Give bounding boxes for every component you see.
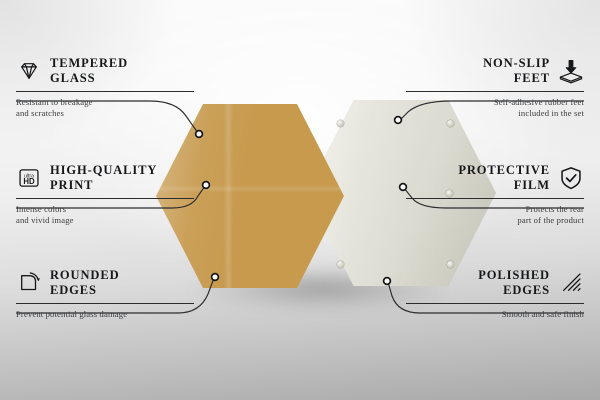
feature-polished-edges: POLISHED EDGES Smooth and safe finish	[406, 268, 584, 320]
feature-divider	[16, 91, 194, 92]
feature-rounded-edges: ROUNDED EDGES Prevent potential glass da…	[16, 268, 194, 320]
feature-divider	[16, 303, 194, 304]
connector-endpoint-rounded-edges	[212, 274, 219, 281]
feature-description: Resistant to breakage and scratches	[16, 97, 194, 120]
connector-endpoint-print	[203, 182, 210, 189]
press-down-pad-icon	[558, 58, 584, 84]
feature-header: ROUNDED EDGES	[16, 268, 194, 299]
feature-protective-film: PROTECTIVE FILM Protects the rear part o…	[406, 163, 584, 227]
feature-header: NON-SLIP FEET	[406, 56, 584, 87]
feature-high-quality-print: ultra HD HIGH-QUALITY PRINT Intense colo…	[16, 163, 194, 227]
feature-title: PROTECTIVE FILM	[458, 163, 550, 194]
feature-divider	[16, 198, 194, 199]
feature-header: TEMPERED GLASS	[16, 56, 194, 87]
rounded-corner-icon	[16, 270, 42, 296]
feature-divider	[406, 303, 584, 304]
svg-text:HD: HD	[23, 177, 35, 186]
feature-description: Smooth and safe finish	[406, 309, 584, 321]
diamond-icon	[16, 58, 42, 84]
feature-title: NON-SLIP FEET	[483, 56, 550, 87]
feature-header: ultra HD HIGH-QUALITY PRINT	[16, 163, 194, 194]
feature-title: TEMPERED GLASS	[50, 56, 128, 87]
feature-description: Self-adhesive rubber feet included in th…	[406, 97, 584, 120]
connector-endpoint-tempered-glass	[196, 131, 203, 138]
feature-description: Intense colors and vivid image	[16, 204, 194, 227]
ultra-hd-icon: ultra HD	[16, 165, 42, 191]
feature-description: Prevent potential glass damage	[16, 309, 194, 321]
connector-endpoint-polished-edges	[384, 278, 391, 285]
feature-header: POLISHED EDGES	[406, 268, 584, 299]
connector-endpoint-non-slip-feet	[395, 117, 402, 124]
feature-header: PROTECTIVE FILM	[406, 163, 584, 194]
infographic-canvas: TEMPERED GLASS Resistant to breakage and…	[0, 0, 600, 400]
feature-divider	[406, 91, 584, 92]
feature-title: ROUNDED EDGES	[50, 268, 120, 299]
shield-check-icon	[558, 165, 584, 191]
feature-description: Protects the rear part of the product	[406, 204, 584, 227]
diagonal-hatch-icon	[558, 270, 584, 296]
feature-title: HIGH-QUALITY PRINT	[50, 163, 157, 194]
feature-divider	[406, 198, 584, 199]
feature-non-slip-feet: NON-SLIP FEET Self-adhesive rubber feet …	[406, 56, 584, 120]
feature-tempered-glass: TEMPERED GLASS Resistant to breakage and…	[16, 56, 194, 120]
feature-title: POLISHED EDGES	[478, 268, 550, 299]
